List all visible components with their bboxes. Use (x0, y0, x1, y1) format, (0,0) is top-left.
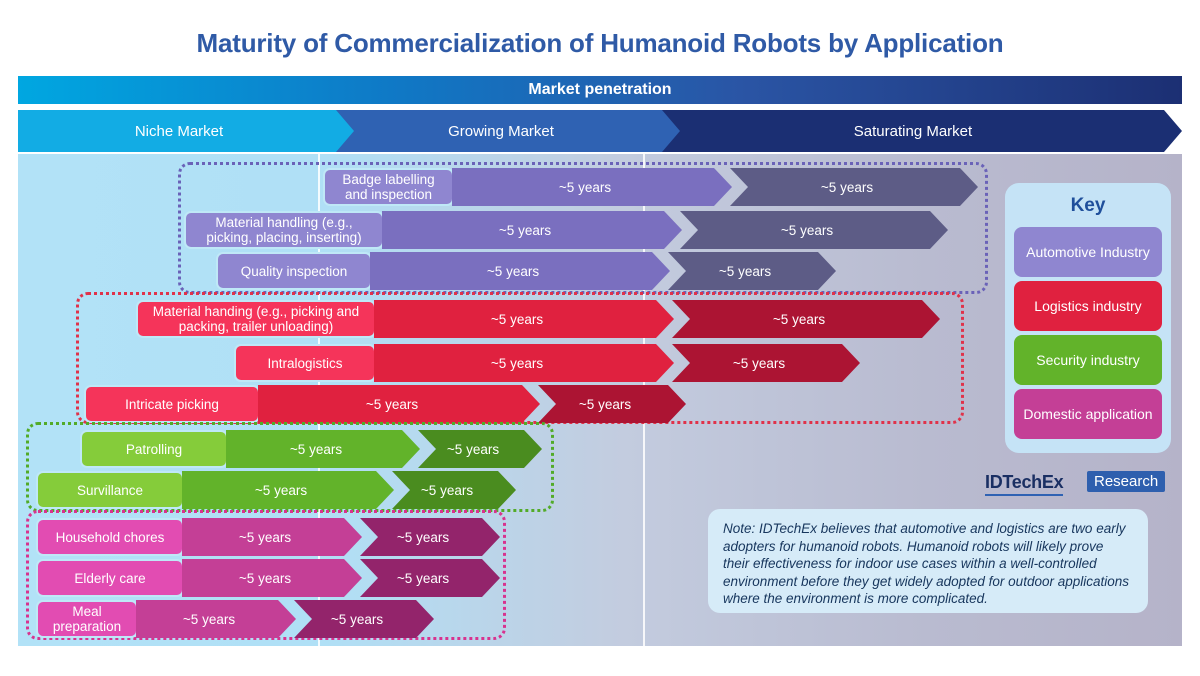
row-label: Intricate picking (84, 385, 260, 423)
row-patrolling: Patrolling ~5 years ~5 years (18, 430, 558, 468)
row-segment-growing: ~5 years (370, 252, 670, 290)
row-segment-saturating-label: ~5 years (579, 397, 631, 412)
row-segment-saturating-label: ~5 years (781, 223, 833, 238)
row-segment-growing: ~5 years (382, 211, 682, 249)
key-item-domestic: Domestic application (1014, 389, 1162, 439)
row-segment-growing: ~5 years (258, 385, 540, 423)
idtechex-logo-research-badge: Research (1087, 471, 1165, 492)
row-segment-saturating: ~5 years (668, 252, 836, 290)
page-title: Maturity of Commercialization of Humanoi… (0, 28, 1200, 59)
row-segment-growing: ~5 years (182, 518, 362, 556)
row-label: Patrolling (80, 430, 228, 468)
row-segment-growing: ~5 years (182, 471, 394, 509)
row-segment-saturating-label: ~5 years (421, 483, 473, 498)
row-segment-saturating: ~5 years (730, 168, 978, 206)
row-meal-preparation: Meal preparation ~5 years ~5 years (18, 600, 508, 638)
row-label: Survillance (36, 471, 184, 509)
row-segment-growing-label: ~5 years (290, 442, 342, 457)
row-label: Badge labelling and inspection (323, 168, 454, 206)
row-segment-saturating: ~5 years (418, 430, 542, 468)
note-box: Note: IDTechEx believes that automotive … (708, 509, 1148, 613)
row-segment-saturating-label: ~5 years (773, 312, 825, 327)
row-segment-growing: ~5 years (452, 168, 732, 206)
row-segment-saturating: ~5 years (672, 300, 940, 338)
row-segment-saturating: ~5 years (360, 559, 500, 597)
row-segment-growing: ~5 years (374, 300, 674, 338)
row-segment-growing-label: ~5 years (487, 264, 539, 279)
row-label: Quality inspection (216, 252, 372, 290)
row-segment-growing: ~5 years (136, 600, 296, 638)
row-segment-growing-label: ~5 years (239, 571, 291, 586)
row-survillance: Survillance ~5 years ~5 years (18, 471, 558, 509)
row-segment-saturating-label: ~5 years (397, 530, 449, 545)
row-segment-growing: ~5 years (182, 559, 362, 597)
row-intralogistics: Intralogistics ~5 years ~5 years (18, 344, 918, 382)
row-label: Intralogistics (234, 344, 376, 382)
key-item-automotive: Automotive Industry (1014, 227, 1162, 277)
stage-niche-market-label: Niche Market (135, 123, 223, 140)
row-segment-growing-label: ~5 years (491, 312, 543, 327)
row-segment-growing-label: ~5 years (183, 612, 235, 627)
key-panel-title: Key (1005, 195, 1171, 217)
row-label: Household chores (36, 518, 184, 556)
infographic-root: Maturity of Commercialization of Humanoi… (0, 0, 1200, 676)
row-segment-growing-label: ~5 years (255, 483, 307, 498)
row-household-chores: Household chores ~5 years ~5 years (18, 518, 508, 556)
row-quality-inspection: Quality inspection ~5 years ~5 years (18, 252, 838, 290)
row-segment-saturating: ~5 years (538, 385, 686, 423)
row-segment-saturating: ~5 years (294, 600, 434, 638)
row-segment-saturating: ~5 years (672, 344, 860, 382)
stage-saturating-market: Saturating Market (662, 110, 1182, 152)
row-segment-growing-label: ~5 years (239, 530, 291, 545)
row-segment-saturating-label: ~5 years (733, 356, 785, 371)
row-segment-growing-label: ~5 years (559, 180, 611, 195)
row-label: Material handing (e.g., picking and pack… (136, 300, 376, 338)
market-stage-axis: Niche Market Growing Market Saturating M… (18, 110, 1182, 152)
key-item-logistics: Logistics industry (1014, 281, 1162, 331)
row-material-handling-auto: Material handling (e.g., picking, placin… (18, 211, 838, 249)
row-segment-saturating-label: ~5 years (397, 571, 449, 586)
row-segment-growing: ~5 years (374, 344, 674, 382)
idtechex-logo: IDTechEx Research (985, 472, 1185, 498)
row-segment-saturating: ~5 years (392, 471, 516, 509)
row-segment-saturating: ~5 years (360, 518, 500, 556)
row-label: Material handling (e.g., picking, placin… (184, 211, 384, 249)
market-penetration-banner: Market penetration (18, 76, 1182, 104)
row-label: Meal preparation (36, 600, 138, 638)
row-segment-saturating-label: ~5 years (331, 612, 383, 627)
key-panel: Key Automotive Industry Logistics indust… (1005, 183, 1171, 453)
chart-body: Badge labelling and inspection ~5 years … (18, 154, 1182, 646)
row-material-handing-log: Material handing (e.g., picking and pack… (18, 300, 918, 338)
row-label: Elderly care (36, 559, 184, 597)
stage-saturating-market-label: Saturating Market (854, 123, 972, 140)
row-segment-saturating-label: ~5 years (821, 180, 873, 195)
row-intricate-picking: Intricate picking ~5 years ~5 years (18, 385, 918, 423)
row-badge-labelling: Badge labelling and inspection ~5 years … (18, 168, 838, 206)
stage-growing-market-label: Growing Market (448, 123, 554, 140)
row-segment-growing-label: ~5 years (499, 223, 551, 238)
row-segment-growing-label: ~5 years (366, 397, 418, 412)
row-segment-growing-label: ~5 years (491, 356, 543, 371)
stage-growing-market: Growing Market (336, 110, 684, 152)
row-segment-saturating-label: ~5 years (719, 264, 771, 279)
key-item-security: Security industry (1014, 335, 1162, 385)
row-elderly-care: Elderly care ~5 years ~5 years (18, 559, 508, 597)
row-segment-saturating: ~5 years (680, 211, 948, 249)
idtechex-logo-name: IDTechEx (985, 472, 1063, 496)
row-segment-growing: ~5 years (226, 430, 420, 468)
row-segment-saturating-label: ~5 years (447, 442, 499, 457)
stage-niche-market: Niche Market (18, 110, 358, 152)
